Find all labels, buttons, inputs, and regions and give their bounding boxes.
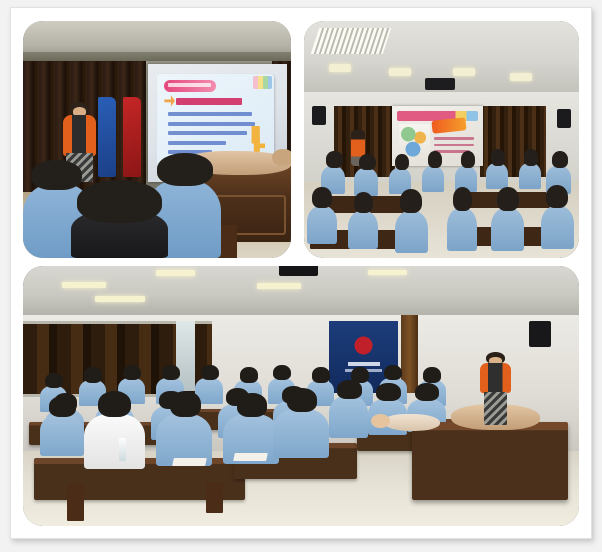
wall-speaker-left (312, 106, 326, 125)
slide-title-graphic (431, 118, 467, 135)
photo-classroom-overview-with-manikins[interactable] (23, 266, 579, 526)
attendee-shirt (491, 208, 524, 251)
ceiling-beam (23, 52, 291, 61)
chair (206, 482, 223, 513)
audience-front-rows (23, 149, 291, 258)
attendee-head (326, 151, 343, 168)
slide-body-line (434, 137, 474, 140)
ceiling-lamp (368, 270, 407, 275)
front-demo-desk (412, 422, 568, 500)
slide-body-line (168, 131, 248, 135)
attendee-head (237, 393, 267, 416)
attendee-head (157, 153, 213, 186)
instructor-orange-vest (480, 363, 511, 394)
attendee-head (423, 367, 441, 383)
attendee-shirt (307, 206, 337, 244)
attendee-shirt (329, 396, 368, 438)
attendee-head (45, 373, 63, 389)
ceiling-lamp (95, 296, 145, 302)
attendee-head (524, 149, 538, 166)
attendee-shirt (273, 409, 329, 458)
attendee-head (98, 391, 131, 417)
slide-body-line (168, 141, 227, 145)
slide-header-bar (397, 111, 479, 120)
ceiling-projector (425, 78, 455, 90)
attendee-shirt-white (84, 414, 145, 469)
slide-body-line (168, 112, 252, 116)
ceiling-lamp (510, 73, 532, 81)
infant-cpr-manikin (384, 414, 440, 431)
attendee-head (170, 391, 201, 417)
attendee-head (415, 383, 439, 401)
company-logo-icon (348, 334, 379, 357)
attendee-head (546, 185, 568, 209)
attendee-shirt (541, 206, 574, 249)
wall-speaker-right (557, 109, 571, 128)
attendee-head (162, 365, 180, 381)
slide-page-tabs (253, 76, 272, 88)
instructor (479, 352, 512, 425)
attendee-head (201, 365, 219, 381)
collage-card (10, 7, 592, 539)
attendee-head (552, 151, 569, 168)
photo-presenter-with-projection-screen[interactable] (23, 21, 291, 258)
ceiling-lamp (389, 68, 411, 76)
attendee-head (461, 151, 475, 168)
slide-header-bar (164, 80, 216, 92)
wall-speaker (529, 321, 551, 347)
photo-1-scene (23, 21, 291, 258)
attendee-head (359, 154, 376, 171)
attendee-head (31, 160, 82, 191)
notepaper (172, 458, 207, 466)
attendee-shirt (348, 211, 378, 249)
attendee-head (497, 187, 519, 211)
attendee-head (312, 187, 331, 208)
ceiling-lamp (156, 270, 195, 276)
attendee-shirt (486, 163, 508, 189)
arrow-bullet-icon (164, 95, 175, 106)
attendee-head (287, 388, 317, 411)
attendee-head (312, 367, 330, 383)
ceiling-lamp (62, 282, 106, 288)
attendee-shirt (519, 163, 541, 189)
attendee-head (428, 151, 442, 168)
slide-subtitle-bar (176, 98, 242, 105)
attendee-head (453, 187, 472, 211)
attendee-head (49, 396, 77, 417)
attendee-head (123, 365, 141, 381)
photo-3-scene (23, 266, 579, 526)
photo-wide-view-of-full-audience[interactable] (304, 21, 579, 258)
chair (67, 484, 84, 520)
ceiling-light-grid (311, 28, 391, 54)
attendee-head-foreground (77, 180, 163, 224)
notepaper (233, 453, 268, 461)
attendee-head (491, 149, 505, 166)
instructor-skirt (484, 392, 507, 425)
attendee-head (84, 367, 102, 383)
attendee-head (384, 365, 402, 381)
attendee-head (273, 365, 291, 381)
slide-body-line (434, 144, 474, 147)
photo-2-scene (304, 21, 579, 258)
ceiling-projector (279, 266, 318, 276)
attendee-shirt (395, 211, 428, 254)
attendee-head (376, 383, 400, 401)
attendee-head (354, 192, 373, 213)
attendee-head (400, 189, 422, 213)
attendee-shirt (422, 166, 444, 192)
ceiling-lamp (257, 283, 301, 289)
ceiling-lamp (453, 68, 475, 76)
banner-company-name-cn (348, 362, 380, 366)
ceiling-lamp (329, 64, 351, 72)
slide-body-line (168, 122, 255, 126)
attendee-head (337, 380, 361, 398)
attendee-head (240, 367, 258, 383)
water-bottle (119, 438, 126, 461)
attendee-shirt (40, 414, 84, 456)
attendee-head (395, 154, 409, 171)
attendee-shirt (447, 208, 477, 251)
